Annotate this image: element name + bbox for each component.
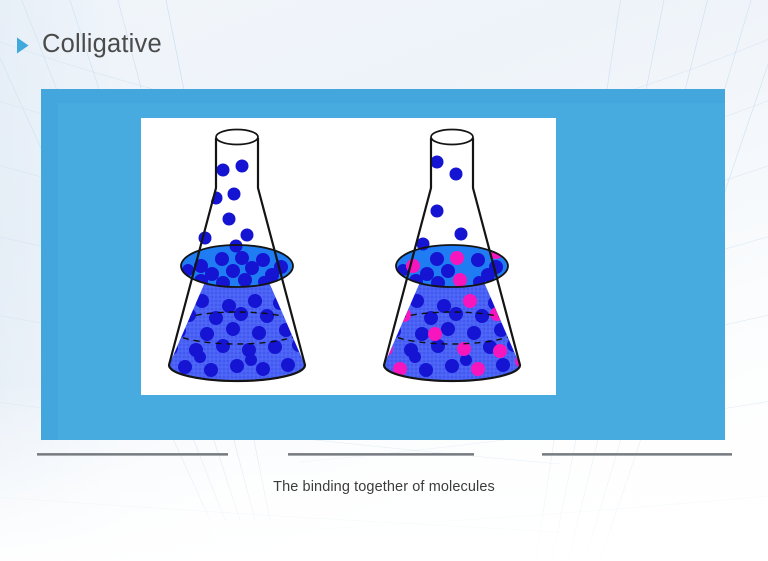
separator-rule-right xyxy=(542,453,732,456)
slide-canvas: Colligative xyxy=(0,0,768,561)
page-title: Colligative xyxy=(42,32,162,58)
slide-title-row: Colligative xyxy=(16,27,162,63)
triangle-right-icon xyxy=(16,37,29,54)
flask-illustration xyxy=(141,118,556,395)
flask-left xyxy=(157,130,319,381)
flask-right xyxy=(372,130,534,381)
slide-caption: The binding together of molecules xyxy=(0,479,768,495)
content-panel xyxy=(41,89,725,440)
separator-rule-left xyxy=(37,453,228,456)
separator-rule-center xyxy=(288,453,474,456)
